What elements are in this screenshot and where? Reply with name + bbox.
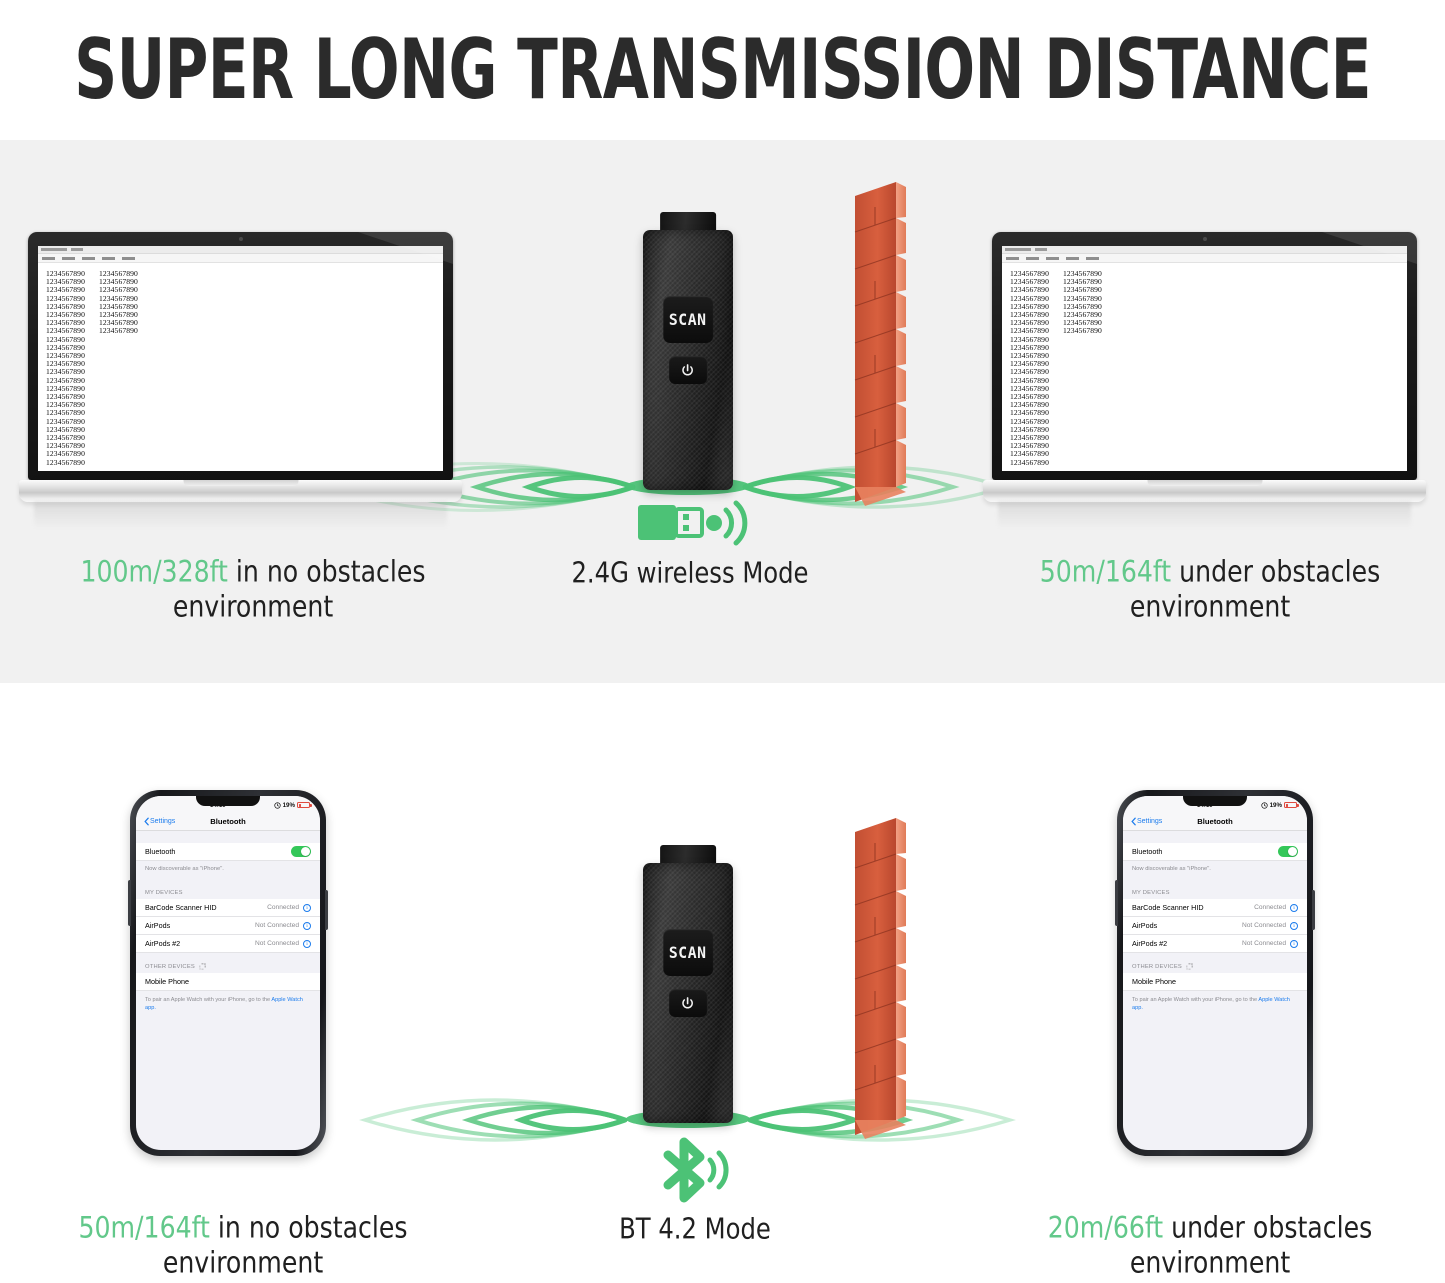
battery-percent: 19%: [283, 802, 295, 809]
laptop-reflection: [34, 502, 447, 528]
bluetooth-toggle-row[interactable]: Bluetooth: [1123, 843, 1307, 861]
my-devices-header: MY DEVICES: [1123, 880, 1307, 899]
battery-icon: [297, 802, 310, 808]
device-name: BarCode Scanner HID: [145, 903, 217, 912]
window-menubar[interactable]: [1002, 254, 1407, 263]
phone-notch: [196, 796, 260, 806]
other-devices-list: Mobile Phone: [1123, 973, 1307, 991]
caption-rest: under obstacles environment: [1130, 1210, 1372, 1280]
webcam-icon: [239, 237, 243, 241]
barcode-line: 1234567890: [99, 327, 138, 335]
alarm-icon: [1261, 802, 1268, 809]
info-icon[interactable]: i: [1290, 940, 1298, 948]
infographic-scene: 1234567890123456789012345678901234567890…: [0, 0, 1445, 1283]
bluetooth-toggle[interactable]: [1278, 846, 1298, 857]
paired-device-row[interactable]: AirPods #2Not Connectedi: [136, 935, 320, 953]
window-menubar[interactable]: [38, 254, 443, 263]
laptop-base: [983, 480, 1426, 502]
caption-distance: 50m/164ft: [1040, 554, 1171, 589]
scan-button[interactable]: SCAN: [663, 296, 713, 343]
bluetooth-signal-icon: [668, 1142, 726, 1198]
spacer: [1123, 831, 1307, 843]
screen-title: Bluetooth: [136, 817, 320, 826]
phone-power-button[interactable]: [1312, 890, 1315, 930]
device-status: Not Connected: [255, 922, 299, 929]
screen-title: Bluetooth: [1123, 817, 1307, 826]
laptop-lid: 1234567890123456789012345678901234567890…: [28, 232, 453, 480]
info-icon[interactable]: i: [1290, 922, 1298, 930]
device-status-group: Not Connectedi: [255, 922, 311, 930]
laptop-left: 1234567890123456789012345678901234567890…: [28, 232, 453, 502]
device-name: AirPods #2: [145, 939, 180, 948]
scanning-spinner-icon: [1186, 963, 1193, 970]
smartphone-left: 14:10 19% Setti: [130, 790, 326, 1156]
paired-device-row[interactable]: AirPodsNot Connectedi: [136, 917, 320, 935]
discoverable-note: Now discoverable as "iPhone".: [136, 861, 320, 880]
paired-device-row[interactable]: BarCode Scanner HIDConnectedi: [136, 899, 320, 917]
status-right-cluster: 19%: [274, 802, 310, 809]
barcode-scanner-device-bt[interactable]: SCAN: [643, 845, 733, 1123]
other-devices-label: OTHER DEVICES: [145, 964, 195, 970]
other-device-row[interactable]: Mobile Phone: [1123, 973, 1307, 991]
bluetooth-label: Bluetooth: [1132, 847, 1162, 856]
my-devices-list: BarCode Scanner HIDConnectediAirPodsNot …: [1123, 899, 1307, 953]
other-devices-list: Mobile Phone: [136, 973, 320, 991]
apple-watch-footnote: To pair an Apple Watch with your iPhone,…: [1123, 991, 1307, 1017]
phone-volume-buttons[interactable]: [1115, 880, 1118, 926]
mode-label-text: 2.4G wireless Mode: [571, 557, 808, 590]
laptop-reflection: [998, 502, 1411, 528]
scanned-barcode-list: 1234567890123456789012345678901234567890…: [1002, 263, 1407, 467]
webcam-icon: [1203, 237, 1207, 241]
bluetooth-label: Bluetooth: [145, 847, 175, 856]
footnote-text: To pair an Apple Watch with your iPhone,…: [145, 997, 271, 1003]
mode-label-bt: BT 4.2 Mode: [520, 1213, 870, 1247]
my-devices-label: MY DEVICES: [1132, 890, 1170, 896]
apple-watch-footnote: To pair an Apple Watch with your iPhone,…: [136, 991, 320, 1017]
other-devices-header: OTHER DEVICES: [1123, 953, 1307, 973]
footnote-text: To pair an Apple Watch with your iPhone,…: [1132, 997, 1258, 1003]
device-status: Connected: [1254, 904, 1286, 911]
caption-distance: 50m/164ft: [78, 1210, 209, 1245]
mode-label-text: BT 4.2 Mode: [619, 1213, 771, 1246]
alarm-icon: [274, 802, 281, 809]
barcode-line: 1234567890: [1010, 459, 1049, 467]
phone-power-button[interactable]: [325, 890, 328, 930]
my-devices-label: MY DEVICES: [145, 890, 183, 896]
device-name: Mobile Phone: [145, 977, 189, 986]
laptop-screen[interactable]: 1234567890123456789012345678901234567890…: [1002, 246, 1407, 471]
laptop-lid: 1234567890123456789012345678901234567890…: [992, 232, 1417, 480]
bluetooth-toggle[interactable]: [291, 846, 311, 857]
discoverable-note: Now discoverable as "iPhone".: [1123, 861, 1307, 880]
laptop-base: [19, 480, 462, 502]
barcode-line: 1234567890: [1063, 327, 1102, 335]
battery-percent: 19%: [1270, 802, 1282, 809]
other-devices-label: OTHER DEVICES: [1132, 964, 1182, 970]
caption-distance: 100m/328ft: [80, 554, 227, 589]
brick-wall-bt: [855, 818, 906, 1139]
barcode-column-2: 1234567890123456789012345678901234567890…: [99, 270, 138, 467]
device-status-group: Connectedi: [267, 904, 311, 912]
device-name: AirPods: [1132, 921, 1157, 930]
paired-device-row[interactable]: BarCode Scanner HIDConnectedi: [1123, 899, 1307, 917]
phone-screen[interactable]: 14:10 19% Setti: [136, 796, 320, 1150]
bluetooth-toggle-row[interactable]: Bluetooth: [136, 843, 320, 861]
scanned-barcode-list: 1234567890123456789012345678901234567890…: [38, 263, 443, 467]
mode-label-24g: 2.4G wireless Mode: [500, 557, 880, 591]
laptop-right: 1234567890123456789012345678901234567890…: [992, 232, 1417, 502]
signal-waves-right-bt: [750, 1100, 1010, 1140]
my-devices-list: BarCode Scanner HIDConnectediAirPodsNot …: [136, 899, 320, 953]
device-status-group: Connectedi: [1254, 904, 1298, 912]
phone-screen[interactable]: 14:10 19% Setti: [1123, 796, 1307, 1150]
device-status: Connected: [267, 904, 299, 911]
smartphone-right: 14:10 19% Setti: [1117, 790, 1313, 1156]
other-device-row[interactable]: Mobile Phone: [136, 973, 320, 991]
device-status-group: Not Connectedi: [255, 940, 311, 948]
caption-left-24g: 100m/328ft in no obstacles environment: [18, 554, 488, 624]
device-status: Not Connected: [1242, 922, 1286, 929]
phone-frame: 14:10 19% Setti: [130, 790, 326, 1156]
info-icon[interactable]: i: [303, 940, 311, 948]
window-titlebar: [38, 246, 443, 254]
ios-navbar: Settings Bluetooth: [136, 812, 320, 831]
barcode-column-2: 1234567890123456789012345678901234567890…: [1063, 270, 1102, 467]
window-titlebar: [1002, 246, 1407, 254]
device-status: Not Connected: [1242, 940, 1286, 947]
power-button[interactable]: [669, 356, 707, 384]
my-devices-header: MY DEVICES: [136, 880, 320, 899]
device-status: Not Connected: [255, 940, 299, 947]
scan-button-label: SCAN: [669, 943, 707, 962]
caption-right-24g: 50m/164ft under obstacles environment: [985, 554, 1435, 624]
scanning-spinner-icon: [199, 963, 206, 970]
barcode-column-1: 1234567890123456789012345678901234567890…: [1010, 270, 1049, 467]
power-icon: [680, 363, 695, 378]
device-name: Mobile Phone: [1132, 977, 1176, 986]
info-icon[interactable]: i: [1290, 904, 1298, 912]
status-right-cluster: 19%: [1261, 802, 1297, 809]
scan-button[interactable]: SCAN: [663, 929, 713, 976]
device-status-group: Not Connectedi: [1242, 922, 1298, 930]
device-name: AirPods #2: [1132, 939, 1167, 948]
phone-volume-buttons[interactable]: [128, 880, 131, 926]
device-name: AirPods: [145, 921, 170, 930]
phone-notch: [1183, 796, 1247, 806]
info-icon[interactable]: i: [303, 904, 311, 912]
signal-waves-left-bt: [365, 1100, 625, 1140]
caption-right-bt: 20m/66ft under obstacles environment: [985, 1210, 1435, 1280]
paired-device-row[interactable]: AirPodsNot Connectedi: [1123, 917, 1307, 935]
laptop-screen[interactable]: 1234567890123456789012345678901234567890…: [38, 246, 443, 471]
signal-waves-right-24g: [745, 467, 1005, 507]
device-name: BarCode Scanner HID: [1132, 903, 1204, 912]
brick-wall-24g: [855, 182, 906, 506]
power-icon: [680, 996, 695, 1011]
phone-frame: 14:10 19% Setti: [1117, 790, 1313, 1156]
ios-navbar: Settings Bluetooth: [1123, 812, 1307, 831]
power-button[interactable]: [669, 989, 707, 1017]
battery-icon: [1284, 802, 1297, 808]
caption-left-bt: 50m/164ft in no obstacles environment: [18, 1210, 468, 1280]
spacer: [136, 831, 320, 843]
barcode-scanner-device-24g[interactable]: SCAN: [643, 212, 733, 490]
scanner-body: SCAN: [643, 863, 733, 1123]
other-devices-header: OTHER DEVICES: [136, 953, 320, 973]
barcode-line: 1234567890: [46, 459, 85, 467]
info-icon[interactable]: i: [303, 922, 311, 930]
scan-button-label: SCAN: [669, 310, 707, 329]
caption-distance: 20m/66ft: [1048, 1210, 1163, 1245]
barcode-column-1: 1234567890123456789012345678901234567890…: [46, 270, 85, 467]
paired-device-row[interactable]: AirPods #2Not Connectedi: [1123, 935, 1307, 953]
usb-dongle-wifi-icon: [638, 503, 745, 543]
device-status-group: Not Connectedi: [1242, 940, 1298, 948]
scanner-body: SCAN: [643, 230, 733, 490]
